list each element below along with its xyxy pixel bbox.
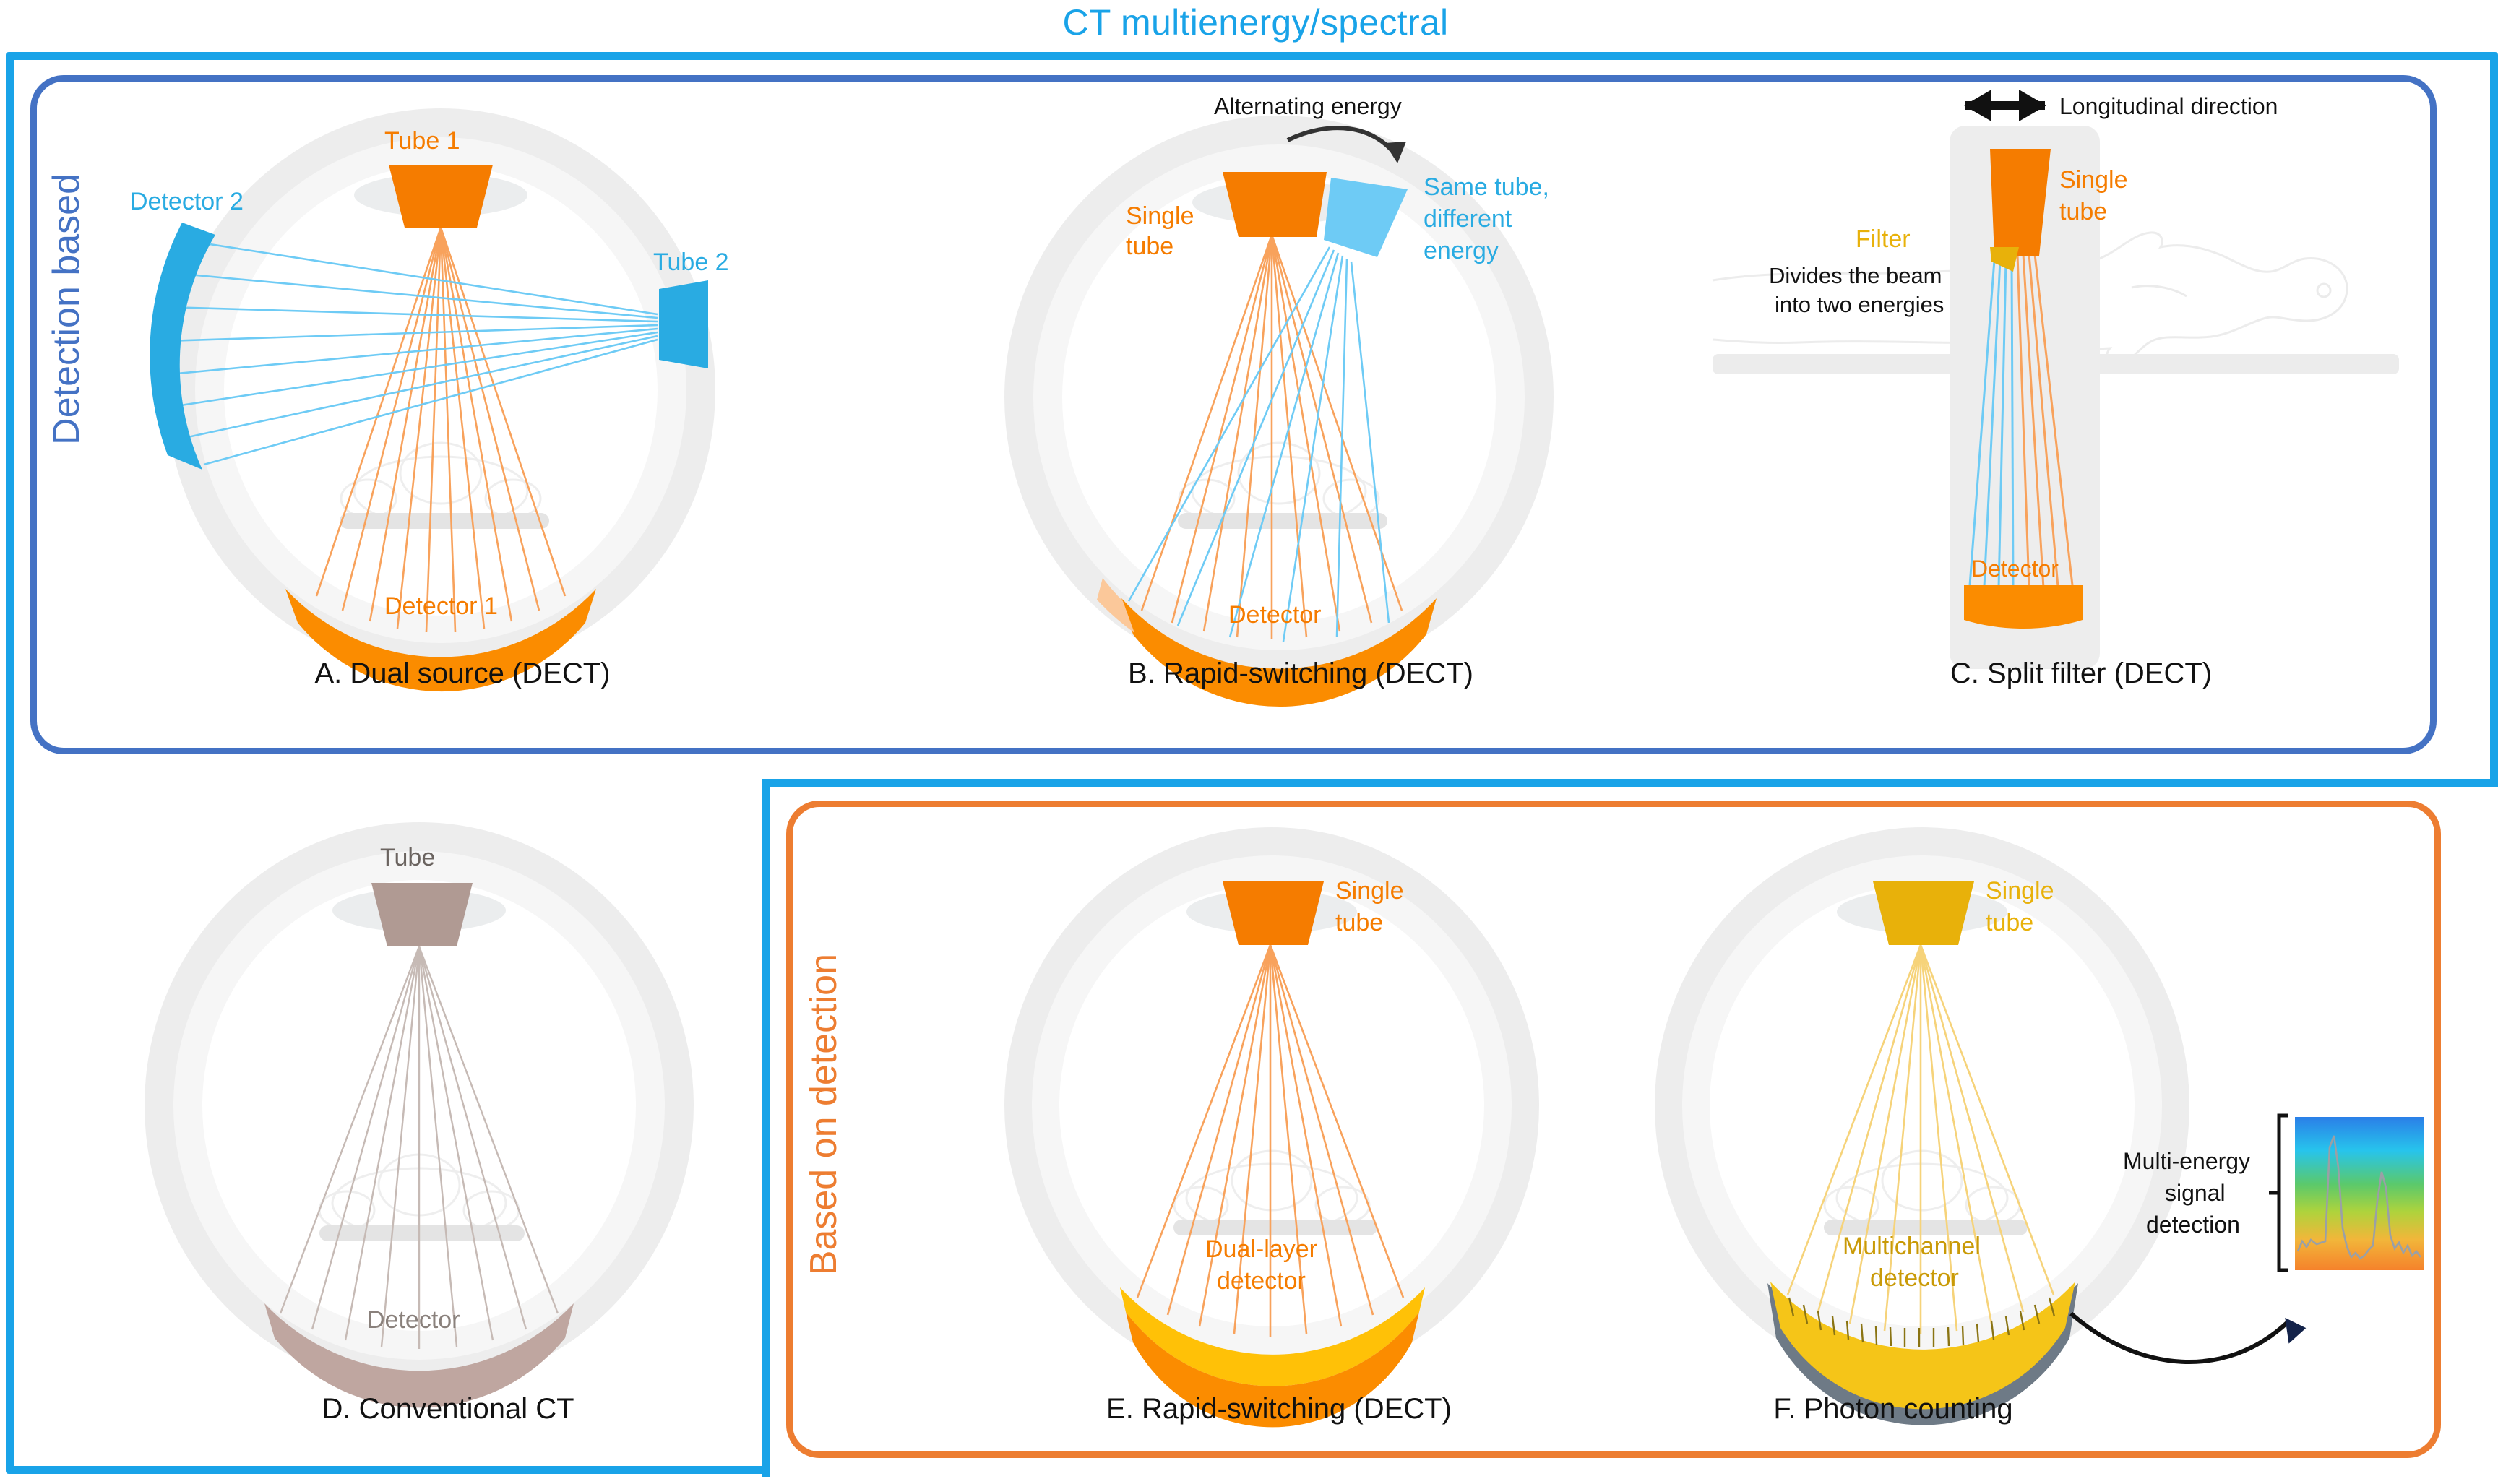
panel-a-dual-source: Tube 1 Tube 2 Detector 1 Detector 2 A. D… xyxy=(130,79,795,686)
multichannel-detector-label-1: Multichannel xyxy=(1843,1233,1981,1260)
filter-label: Filter xyxy=(1856,225,1911,253)
panel-b-caption: B. Rapid-switching (DECT) xyxy=(961,657,1640,690)
single-tube-label-c-1: Single xyxy=(2059,166,2128,194)
patient-table-d xyxy=(319,1225,525,1241)
single-tube-label-f-1: Single xyxy=(1986,877,2054,905)
tube-2-source xyxy=(659,280,708,368)
tube-source-d xyxy=(371,883,473,946)
panel-d-conventional-ct: Tube Detector D. Conventional CT xyxy=(123,802,773,1423)
longitudinal-direction-label: Longitudinal direction xyxy=(2059,93,2278,119)
single-tube-label-b-2: tube xyxy=(1126,233,1173,260)
detector-2-label: Detector 2 xyxy=(130,188,244,215)
panel-f-caption: F. Photon counting xyxy=(1467,1393,2320,1425)
detector-bar-c xyxy=(1964,585,2083,629)
multi-energy-label-2: signal xyxy=(2165,1180,2226,1206)
patient-table-b xyxy=(1178,513,1387,529)
longitudinal-arrow xyxy=(1964,90,2046,121)
inset-bracket xyxy=(2269,1116,2288,1270)
panel-e-dual-layer: Single tube Dual-layer detector E. Rapid… xyxy=(954,802,1604,1423)
panel-d-caption: D. Conventional CT xyxy=(123,1393,773,1425)
panel-b-rapid-switching: Alternating energy Single tube Same tube… xyxy=(961,79,1640,686)
multi-energy-inset xyxy=(2295,1117,2424,1270)
dual-layer-detector-label-2: detector xyxy=(1217,1267,1306,1295)
single-tube-label-e-1: Single xyxy=(1335,877,1404,905)
panel-c-caption: C. Split filter (DECT) xyxy=(1756,657,2406,690)
same-tube-label-3: energy xyxy=(1424,237,1499,264)
tube-label-d: Tube xyxy=(380,844,435,871)
alternating-energy-label: Alternating energy xyxy=(1214,93,1402,119)
same-tube-label-2: different xyxy=(1424,205,1512,233)
filter-desc-line1: Divides the beam xyxy=(1769,263,1942,288)
group-label-based-on-detection: Based on detection xyxy=(802,954,845,1275)
page-title: CT multienergy/spectral xyxy=(0,1,2511,43)
tube-1-source xyxy=(389,165,493,228)
detector-label-b: Detector xyxy=(1228,601,1322,629)
single-tube-label-c-2: tube xyxy=(2059,198,2107,225)
tube-2-label: Tube 2 xyxy=(653,249,729,276)
same-tube-label-1: Same tube, xyxy=(1424,173,1549,201)
panel-c-split-filter: Longitudinal direction Singl xyxy=(1756,79,2406,686)
single-tube-label-f-2: tube xyxy=(1986,909,2033,936)
detector-label-c: Detector xyxy=(1971,556,2059,582)
multi-energy-label-1: Multi-energy xyxy=(2123,1148,2250,1174)
single-tube-label-b-1: Single xyxy=(1126,202,1194,230)
detector-1-label: Detector 1 xyxy=(384,592,498,620)
inset-callout-arrow xyxy=(2071,1313,2288,1362)
single-tube-label-e-2: tube xyxy=(1335,909,1383,936)
tube-1-label: Tube 1 xyxy=(384,127,460,155)
dual-layer-detector-label-1: Dual-layer xyxy=(1205,1235,1317,1263)
single-tube-source-f xyxy=(1873,881,1974,945)
tube-orange-source-b xyxy=(1223,172,1327,237)
multi-energy-label-3: detection xyxy=(2146,1212,2240,1238)
multichannel-detector-label-2: detector xyxy=(1870,1264,1959,1292)
group-label-detection-based: Detection based xyxy=(45,173,88,445)
detector-label-d: Detector xyxy=(367,1306,460,1334)
panel-a-caption: A. Dual source (DECT) xyxy=(130,657,795,690)
filter-desc-line2: into two energies xyxy=(1775,292,1944,317)
panel-f-photon-counting: Single tube Multichannel detector Multi-… xyxy=(1604,802,2457,1423)
single-tube-source-e xyxy=(1223,881,1324,945)
